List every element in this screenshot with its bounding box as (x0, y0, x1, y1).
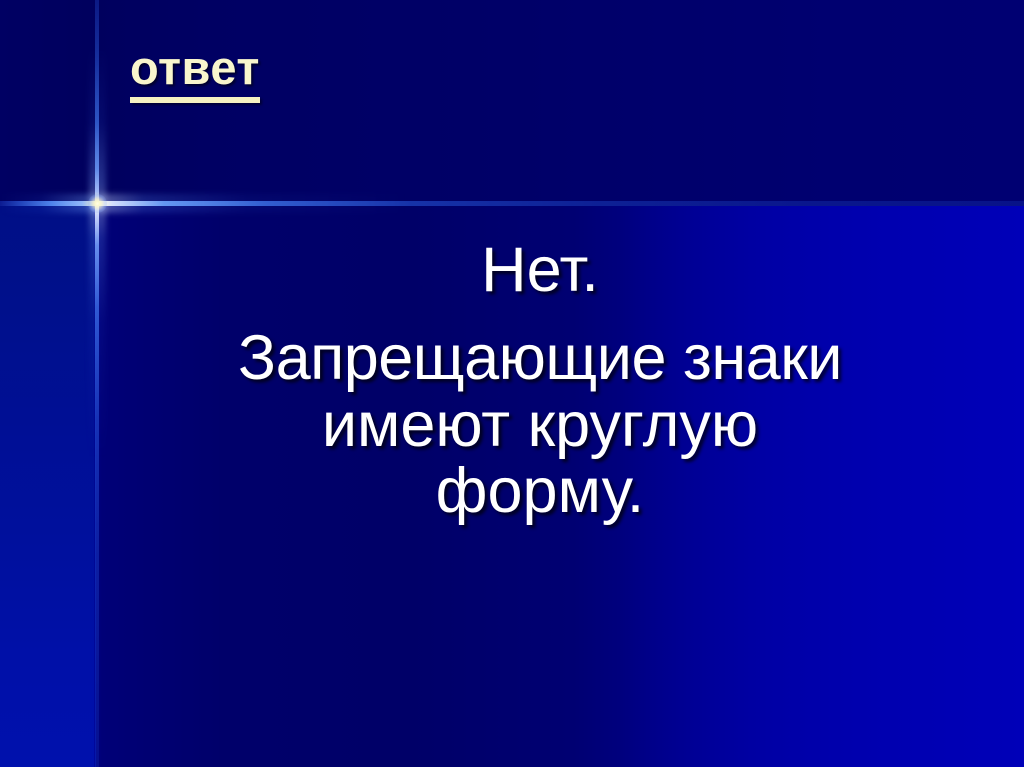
body-line-3: имеют круглую (112, 393, 968, 457)
body-line-1: Нет. (112, 238, 968, 302)
slide-title-underline (130, 97, 260, 103)
background-left-column (0, 206, 96, 767)
body-line-2: Запрещающие знаки (112, 326, 968, 390)
slide-title: ответ (130, 44, 650, 103)
background-top-band (0, 0, 1024, 206)
body-line-4: форму. (112, 459, 968, 523)
slide-canvas: ответ Нет. Запрещающие знаки имеют кругл… (0, 0, 1024, 767)
slide-body: Нет. Запрещающие знаки имеют круглую фор… (112, 238, 968, 523)
slide-title-text: ответ (130, 44, 260, 91)
